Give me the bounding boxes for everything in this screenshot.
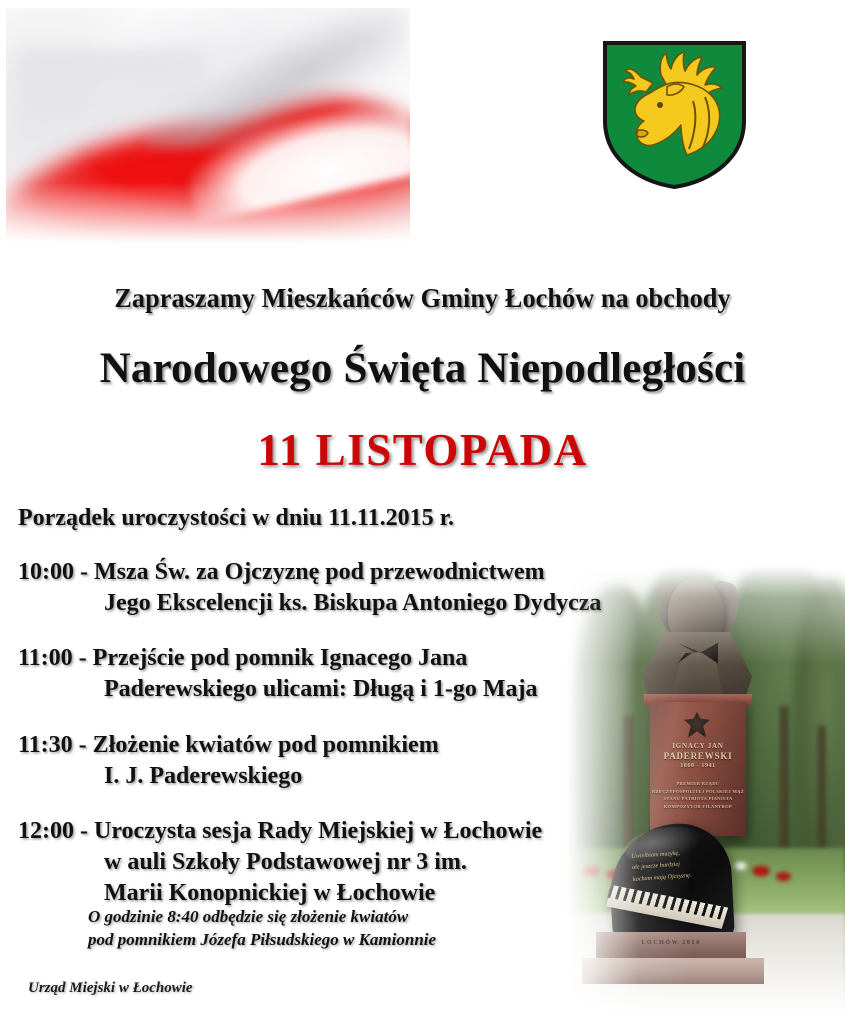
inscription-name-line-2: PADEREWSKI [650,751,746,761]
flag-crease-left [16,48,206,198]
footnote-line-1: O godzinie 8:40 odbędzie się złożenie kw… [88,906,436,929]
program-item-1200: 12:00 - Uroczysta sesja Rady Miejskiej w… [18,816,638,908]
date-headline: 11 LISTOPADA [0,424,845,476]
event-title: Narodowego Święta Niepodległości [0,344,845,393]
program-line: 11:30 - Złożenie kwiatów pod pomnikiem [18,730,638,761]
footnote-line-2: pod pomnikiem Józefa Piłsudskiego w Kami… [88,929,436,952]
issuer-credit: Urząd Miejski w Łochowie [28,980,193,997]
independence-day-poster: Zapraszamy Mieszkańców Gminy Łochów na o… [0,0,845,1014]
program-block: Porządek uroczystości w dniu 11.11.2015 … [18,505,638,933]
inscription-years: 1860 - 1941 [650,763,746,769]
program-line: I. J. Paderewskiego [18,761,638,792]
paderewski-monument-photo: IGNACY JAN PADEREWSKI 1860 - 1941 PREMIE… [566,566,845,1014]
base-inscription: ŁOCHÓW 2014 [596,940,746,946]
program-line: w auli Szkoły Podstawowej nr 3 im. [18,847,638,878]
program-line: Marii Konopnickiej w Łochowie [18,878,638,909]
program-item-1000: 10:00 - Msza Św. za Ojczyznę pod przewod… [18,557,638,618]
flower-red [776,872,791,881]
flower-red [582,866,600,876]
program-line: 11:00 - Przejście pod pomnik Ignacego Ja… [18,643,638,674]
polish-flag-image [6,8,410,246]
program-heading: Porządek uroczystości w dniu 11.11.2015 … [18,505,638,532]
elk-eye [657,102,663,108]
flower-white [734,862,747,870]
program-item-1100: 11:00 - Przejście pod pomnik Ignacego Ja… [18,643,638,704]
monument-base-lower [582,958,764,984]
coat-of-arms-svg [601,39,748,191]
footnote-block: O godzinie 8:40 odbędzie się złożenie kw… [88,906,436,952]
program-item-1130: 11:30 - Złożenie kwiatów pod pomnikiem I… [18,730,638,791]
inscription-roles: PREMIER RZĄDU RZECZYPOSPOLITEJ POLSKIEJ … [650,780,746,810]
program-line: 10:00 - Msza Św. za Ojczyznę pod przewod… [18,557,638,588]
program-line: 12:00 - Uroczysta sesja Rady Miejskiej w… [18,816,638,847]
flower-red [752,866,770,876]
piano-engraved-quote: Uwielbiam muzykę, ale jeszcze bardziej k… [631,845,719,885]
program-line: Jego Ekscelencji ks. Biskupa Antoniego D… [18,588,638,619]
inscription-name-line-1: IGNACY JAN [650,742,746,750]
program-line: Paderewskiego ulicami: Długą i 1-go Maja [18,674,638,705]
lochow-coat-of-arms [601,39,748,191]
flag-bottom-fade [6,182,410,246]
invite-line: Zapraszamy Mieszkańców Gminy Łochów na o… [13,283,833,314]
